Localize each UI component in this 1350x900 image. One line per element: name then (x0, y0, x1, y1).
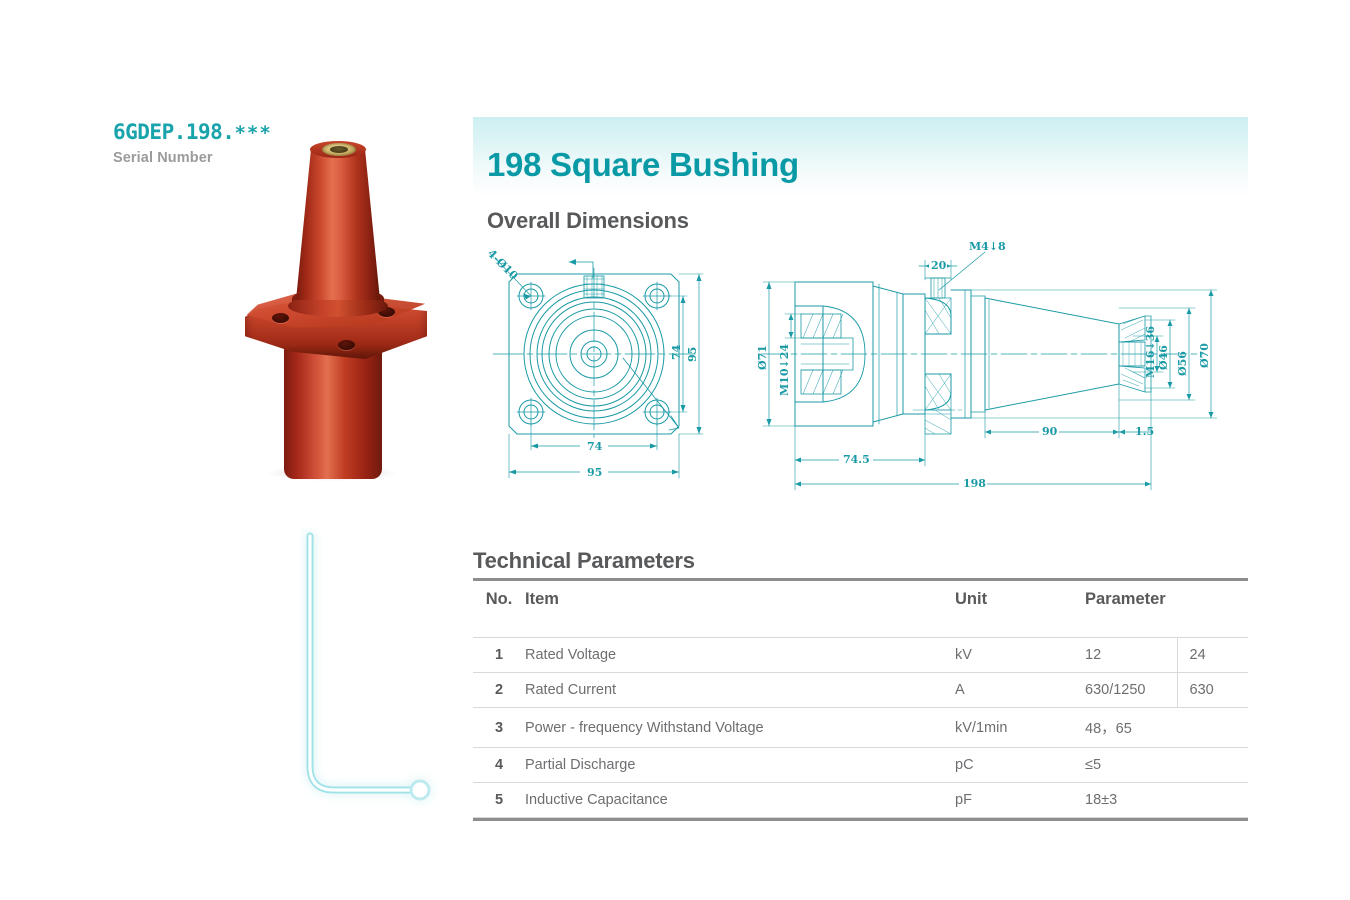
side-view-74-5-label: 74.5 (843, 453, 870, 466)
side-view-dim-m10: M10↓24 (778, 314, 803, 396)
side-view-dia71-label: Ø71 (756, 345, 769, 370)
table-row: 5 Inductive Capacitance pF 18±3 (473, 783, 1248, 818)
row-no: 3 (473, 708, 525, 748)
column-header-item: Item (525, 581, 955, 638)
front-view-dim-95-h-label: 95 (587, 466, 602, 479)
row-unit: pC (955, 748, 1085, 783)
front-view-dim-95-v-label: 95 (686, 347, 699, 362)
page-title: 198 Square Bushing (487, 146, 799, 184)
side-view-dim-1-5: 1.5 (1119, 388, 1154, 438)
technical-drawing: 4-Ø10 74 95 (473, 238, 1248, 518)
column-header-no: No. (473, 581, 525, 638)
column-header-parameter: Parameter (1085, 581, 1248, 638)
front-view-dim-74-h-label: 74 (587, 440, 603, 453)
decorative-glow-line (300, 528, 460, 828)
right-content-column: 198 Square Bushing Overall Dimensions (465, 0, 1350, 900)
table-row: 3 Power - frequency Withstand Voltage kV… (473, 708, 1248, 748)
row-unit: pF (955, 783, 1085, 818)
side-view-20-label: 20 (931, 259, 947, 272)
serial-number-code-text: 6GDEP.198. (113, 120, 234, 144)
row-no: 1 (473, 638, 525, 673)
product-photo (218, 135, 458, 480)
product-tapered-cone (296, 148, 380, 300)
side-view-m4-label: M4↓8 (969, 240, 1006, 253)
drawing-front-view: 4-Ø10 74 95 (485, 247, 703, 479)
table-row: 2 Rated Current A 630/1250 630 (473, 673, 1248, 708)
overall-dimensions-heading: Overall Dimensions (487, 208, 689, 234)
table-header-row: No. Item Unit Parameter (473, 581, 1248, 638)
product-flange-hole (338, 340, 355, 350)
row-no: 4 (473, 748, 525, 783)
side-view-dim-m4: M4↓8 (939, 240, 1006, 290)
side-view-dim-20: 20 (919, 258, 957, 280)
row-parameter-1: 12 (1085, 638, 1177, 673)
side-view-dim-90: 90 (985, 384, 1119, 438)
row-no: 2 (473, 673, 525, 708)
row-parameter-1: 18±3 (1085, 783, 1177, 818)
row-item: Power - frequency Withstand Voltage (525, 708, 955, 748)
row-item: Partial Discharge (525, 748, 955, 783)
product-flange-hole (272, 313, 289, 323)
technical-parameters-table: No. Item Unit Parameter 1 Rated Voltage … (473, 578, 1248, 821)
row-parameter-2 (1177, 748, 1248, 783)
table-row: 1 Rated Voltage kV 12 24 (473, 638, 1248, 673)
side-view-dia70-label: Ø70 (1198, 343, 1211, 368)
side-view-dim-74-5: 74.5 (795, 426, 925, 466)
table-bottom-rule (473, 818, 1248, 821)
product-brass-bore (330, 146, 348, 153)
row-parameter-2: 630 (1177, 673, 1248, 708)
row-parameter-2 (1177, 783, 1248, 818)
row-item: Rated Current (525, 673, 955, 708)
side-view-dia46-label: Ø46 (1157, 345, 1170, 370)
row-item: Inductive Capacitance (525, 783, 955, 818)
row-parameter-1: ≤5 (1085, 748, 1177, 783)
row-no: 5 (473, 783, 525, 818)
row-unit: kV (955, 638, 1085, 673)
side-view-collar (903, 278, 963, 434)
table-row: 4 Partial Discharge pC ≤5 (473, 748, 1248, 783)
technical-parameters-heading: Technical Parameters (473, 548, 695, 574)
row-parameter-1: 48，65 (1085, 708, 1177, 748)
row-unit: kV/1min (955, 708, 1085, 748)
front-view-hole-callout: 4-Ø10 (485, 247, 521, 283)
side-view-m16-label: M16↓36 (1144, 326, 1157, 378)
row-parameter-2 (1177, 708, 1248, 748)
row-parameter-1: 630/1250 (1085, 673, 1177, 708)
row-unit: A (955, 673, 1085, 708)
row-item: Rated Voltage (525, 638, 955, 673)
drawing-side-view: Ø71 M10↓24 20 (756, 240, 1217, 490)
side-view-1-5-label: 1.5 (1135, 425, 1154, 438)
row-parameter-2: 24 (1177, 638, 1248, 673)
left-product-column: 6GDEP.198.*** Serial Number (0, 0, 465, 900)
side-view-198-label: 198 (963, 477, 986, 490)
front-view-dim-74-v-label: 74 (670, 344, 683, 360)
side-view-m10-label: M10↓24 (778, 344, 791, 396)
side-view-90-label: 90 (1042, 425, 1058, 438)
column-header-unit: Unit (955, 581, 1085, 638)
side-view-dia56-label: Ø56 (1176, 351, 1189, 376)
